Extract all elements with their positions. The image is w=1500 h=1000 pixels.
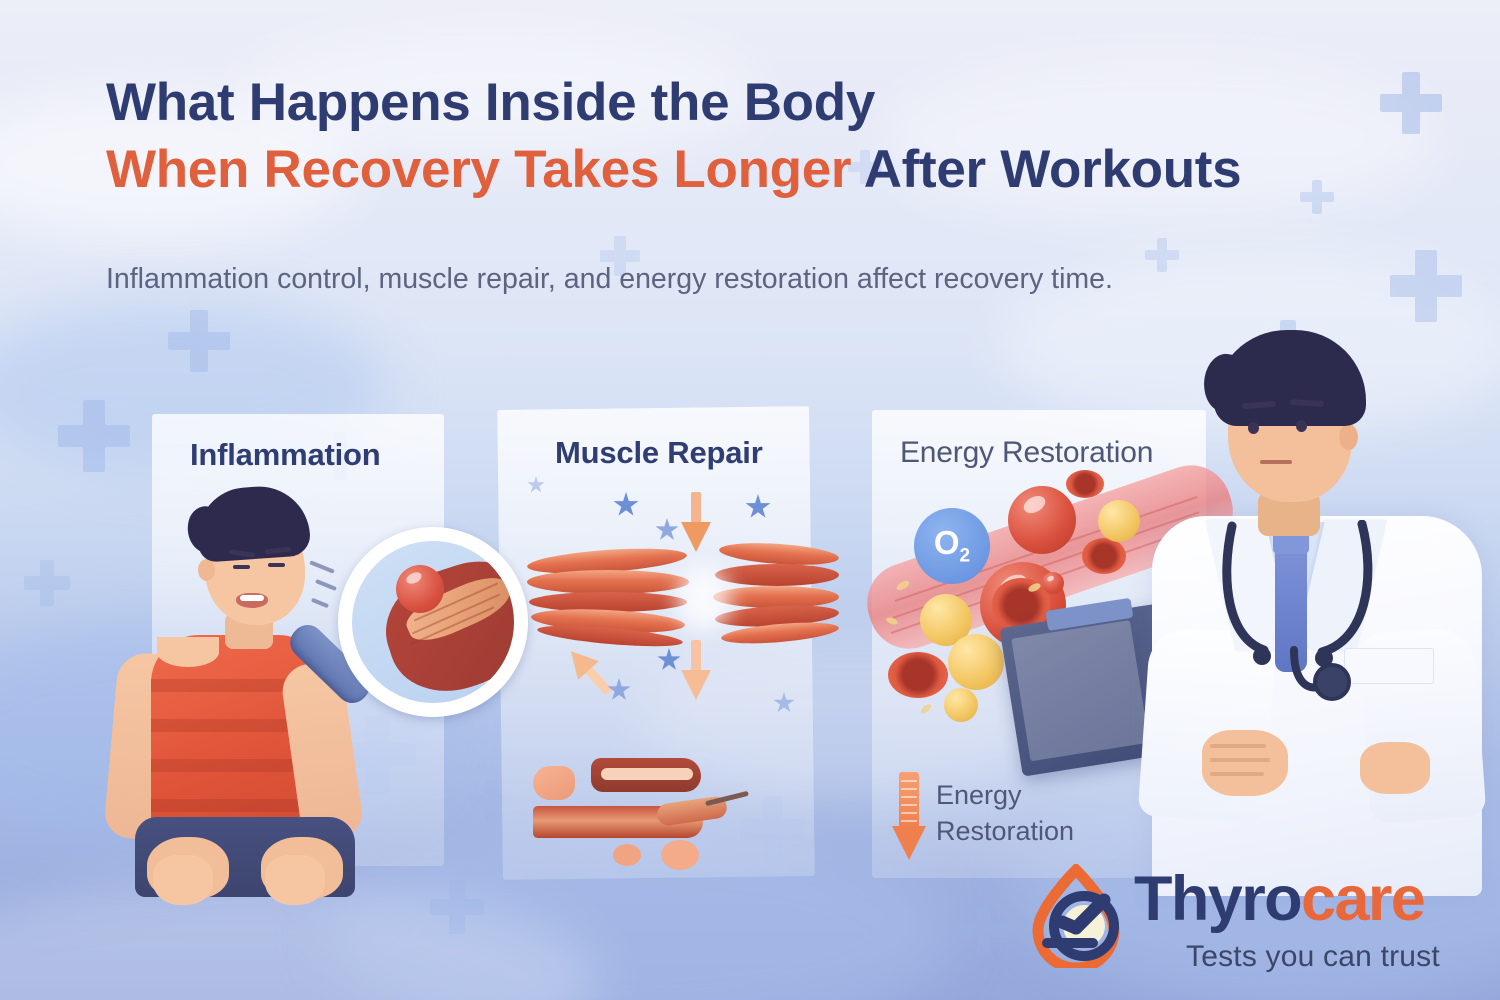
oxygen-badge-label: O2 [934,526,970,566]
down-arrow-icon [892,772,926,864]
panel-title-inflammation: Inflammation [190,437,381,473]
droplet-microscope-logo-icon [1022,864,1130,968]
magnifying-glass-icon [338,527,528,717]
arrow-down-icon [681,492,711,556]
oxygen-badge: O2 [914,508,990,584]
panel-title-muscle-repair: Muscle Repair [555,435,763,471]
energy-restoration-callout: Energy Restoration [936,778,1074,849]
logo-tagline: Tests you can trust [1186,940,1440,974]
arrow-down-icon [681,640,711,710]
logo-care: care [1301,864,1424,934]
callout-line-2: Restoration [936,814,1074,850]
muscle-repair-illustration [505,470,815,870]
callout-line-1: Energy [936,778,1074,814]
logo-thyro: Thyro [1134,864,1301,934]
infographic-poster: What Happens Inside the Body When Recove… [0,0,1500,1000]
doctor-illustration [1092,330,1500,890]
stethoscope-icon [1210,520,1390,710]
logo-wordmark: Thyrocare [1134,868,1424,931]
thyrocare-logo[interactable]: Thyrocare Tests you can trust [1022,862,1484,982]
